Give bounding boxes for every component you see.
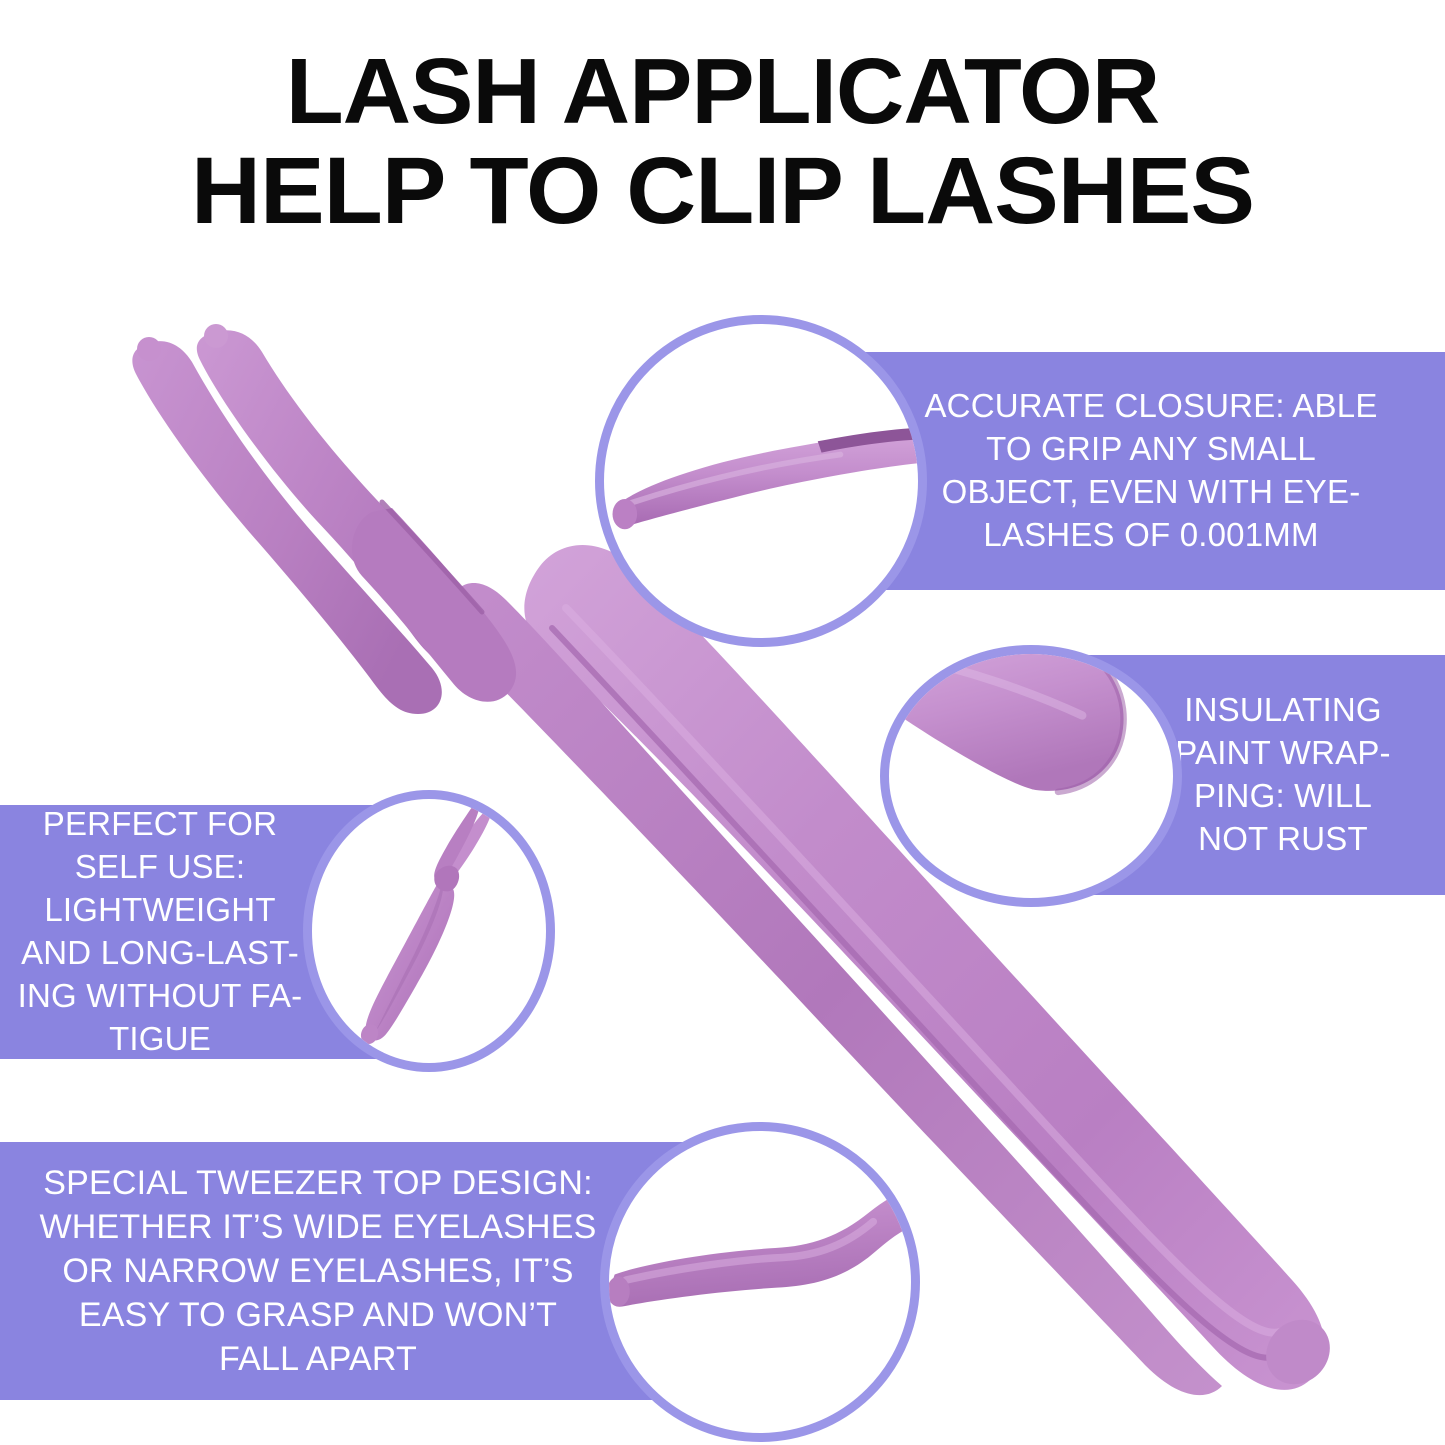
callout-text-accurate-closure: ACCURATE CLOSURE: ABLE TO GRIP ANY SMALL…: [917, 385, 1445, 557]
callout-text-tweezer-top-design: SPECIAL TWEEZER TOP DESIGN: WHETHER IT’S…: [0, 1161, 618, 1382]
infographic-canvas: LASH APPLICATOR HELP TO CLIP LASHES: [0, 0, 1445, 1445]
magnifier-circle-arm-bend: [600, 1122, 920, 1442]
magnifier-circle-tweezer-tip: [595, 315, 927, 647]
handle-end-closeup-svg: [889, 654, 1173, 898]
tweezer-tip-closeup-svg: [604, 324, 918, 638]
callout-text-insulating-paint: INSULATING PAINT WRAP- PING: WILL NOT RU…: [1149, 689, 1445, 861]
full-tweezer-closeup-svg: [312, 799, 546, 1063]
magnifier-circle-full-tweezer: [303, 790, 555, 1072]
tweezer-arm-bend-closeup-svg: [609, 1131, 911, 1433]
callout-text-self-use: PERFECT FOR SELF USE: LIGHTWEIGHT AND LO…: [0, 803, 310, 1060]
magnifier-circle-handle-end: [880, 645, 1182, 907]
